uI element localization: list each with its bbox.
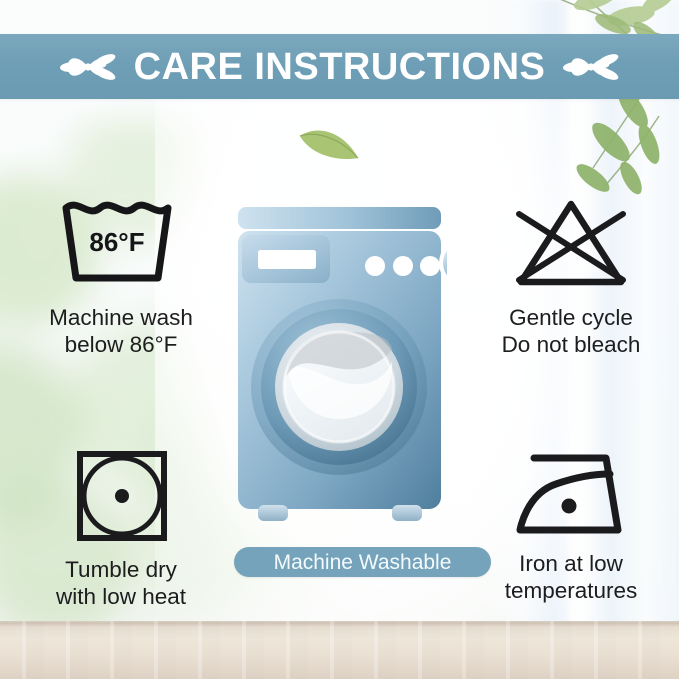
machine-washable-badge: Machine Washable: [234, 547, 491, 577]
wash-temperature-label: 86°F: [89, 227, 144, 257]
fleur-de-lis-icon-right: [563, 46, 619, 88]
wood-table-surface: [0, 621, 679, 679]
do-not-bleach-triangle-icon: [509, 196, 633, 297]
instruction-tumble-dry-low: Tumble dry with low heat: [16, 448, 226, 610]
instruction-iron-low: Iron at low temperatures: [468, 448, 674, 604]
instruction-caption: Gentle cycle Do not bleach: [502, 305, 641, 358]
instruction-caption: Tumble dry with low heat: [56, 557, 186, 610]
wash-tub-icon: 86°F: [58, 196, 184, 297]
tumble-dry-low-icon: [72, 448, 170, 549]
floating-leaf-icon: [296, 118, 362, 166]
badge-label: Machine Washable: [274, 552, 452, 573]
instruction-machine-wash: 86°F Machine wash below 86°F: [16, 196, 226, 358]
washing-machine-illustration: [232, 205, 447, 535]
iron-low-temperature-icon: [510, 448, 632, 543]
instruction-gentle-cycle-no-bleach: Gentle cycle Do not bleach: [468, 196, 674, 358]
header-banner: CARE INSTRUCTIONS: [0, 34, 679, 99]
page-title: CARE INSTRUCTIONS: [134, 48, 546, 86]
fleur-de-lis-icon-left: [60, 46, 116, 88]
instruction-caption: Iron at low temperatures: [505, 551, 638, 604]
care-instructions-graphic: CARE INSTRUCTIONS 86°F Machine wash b: [0, 0, 679, 679]
foliage-leaves-icon: [549, 86, 669, 206]
instruction-caption: Machine wash below 86°F: [49, 305, 193, 358]
